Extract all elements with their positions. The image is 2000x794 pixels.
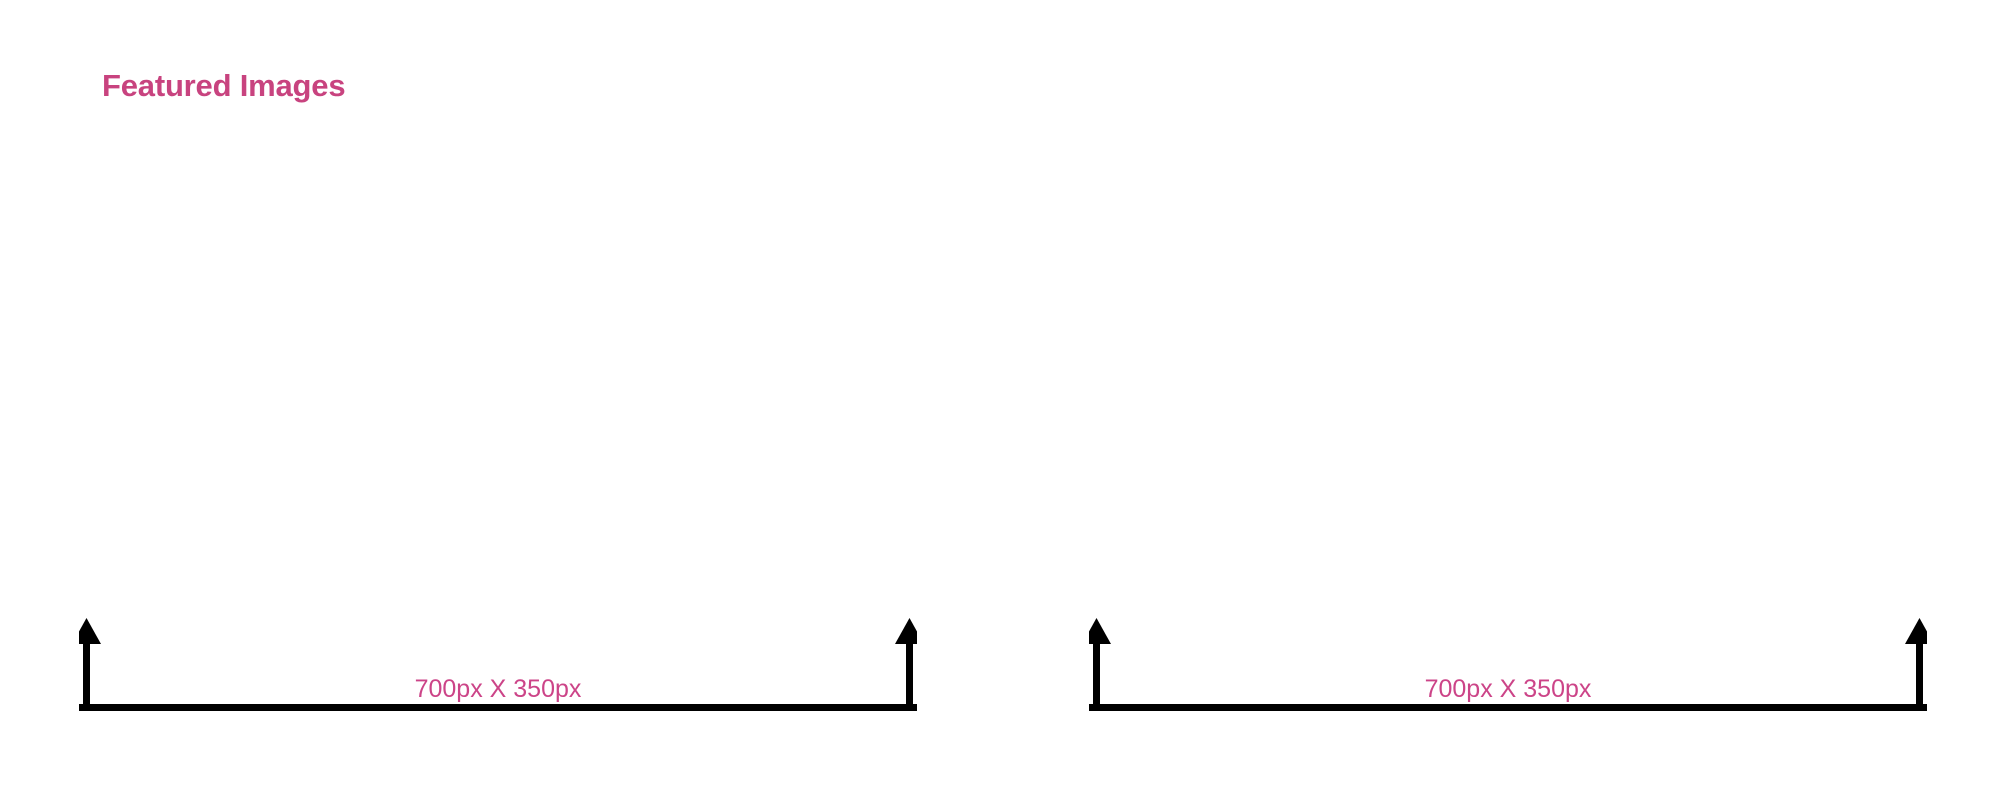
featured-image-card-1[interactable]: ? ? ? xyxy=(79,190,911,606)
dimension-bracket-1: 700px X 350px xyxy=(79,616,917,734)
dimension-bracket-2: 700px X 350px xyxy=(1089,616,1927,734)
featured-image-card-2[interactable]: 5 xyxy=(1089,190,1921,606)
featured-images-page: Featured Images ? ? ? xyxy=(0,0,2000,794)
page-title: Featured Images xyxy=(102,68,345,104)
dimension-label-1: 700px X 350px xyxy=(79,675,917,704)
dimension-label-2: 700px X 350px xyxy=(1089,675,1927,704)
